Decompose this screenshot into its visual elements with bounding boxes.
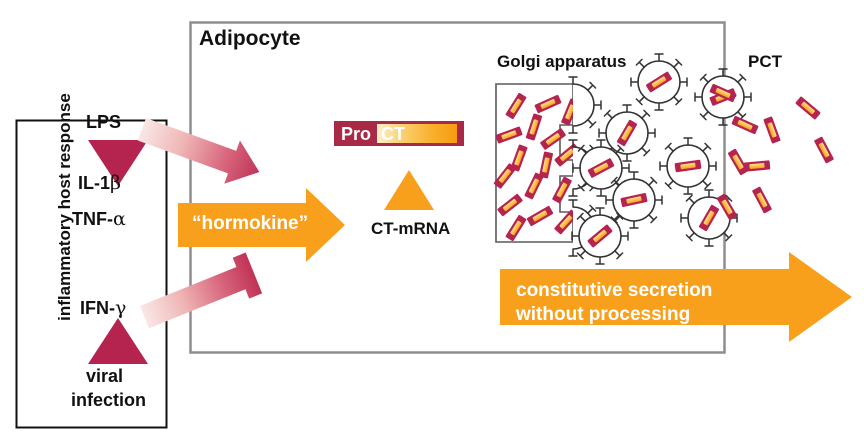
adipocyte-title: Adipocyte (199, 27, 301, 51)
inflammatory-host-response-label: inflammatory host response (55, 72, 75, 342)
ifngamma-prefix: IFN- (80, 298, 115, 318)
golgi-apparatus-label: Golgi apparatus (497, 52, 626, 72)
il1beta-prefix: IL-1 (78, 173, 110, 193)
alpha-glyph: α (113, 208, 126, 230)
viral-infection-line1: viral (86, 366, 123, 387)
lps-label: LPS (86, 112, 121, 133)
diagram-canvas: inflammatory host response LPS IL-1β TNF… (0, 0, 864, 441)
secretion-line-2: without processing (516, 303, 712, 327)
proct-pro-label: Pro (341, 124, 371, 145)
proct-ct-label: CT (381, 124, 405, 145)
tnfalpha-label: TNF-α (72, 208, 126, 230)
tnfalpha-prefix: TNF- (72, 209, 113, 229)
viral-infection-line2: infection (71, 390, 146, 411)
ct-mrna-label: CT-mRNA (371, 219, 450, 239)
beta-glyph: β (110, 172, 121, 194)
secretion-line-1: constitutive secretion (516, 279, 712, 303)
ifngamma-label: IFN-γ (80, 297, 126, 319)
gamma-glyph: γ (115, 297, 126, 319)
hormokine-label: “hormokine” (192, 213, 308, 235)
constitutive-secretion-label: constitutive secretion without processin… (516, 279, 712, 327)
il1beta-label: IL-1β (78, 172, 121, 194)
pct-label: PCT (748, 52, 782, 72)
